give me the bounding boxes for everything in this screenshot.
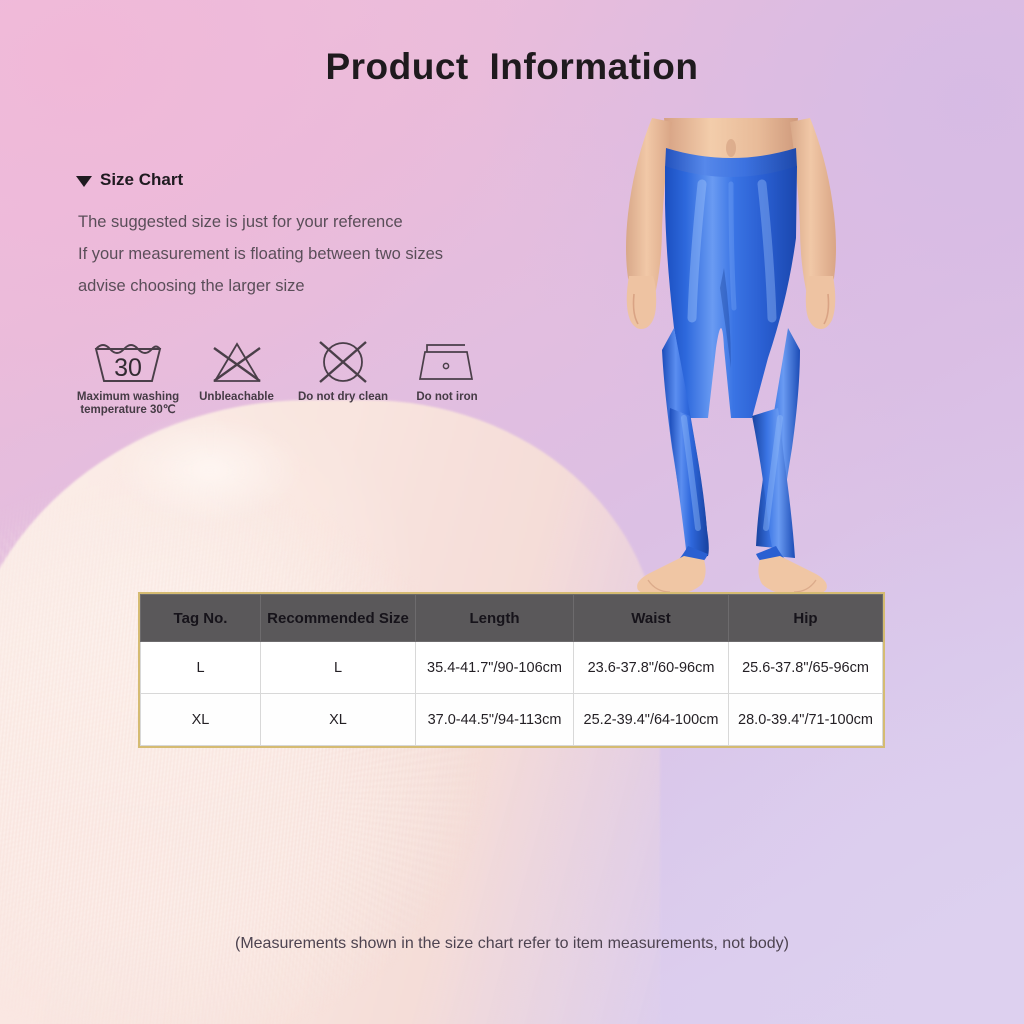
table-row: XL XL 37.0-44.5"/94-113cm 25.2-39.4"/64-… — [141, 694, 883, 746]
column-header-hip: Hip — [729, 595, 883, 642]
cell-length: 37.0-44.5"/94-113cm — [416, 694, 574, 746]
care-symbol-dry-clean: Do not dry clean — [289, 336, 397, 404]
product-information-page: Product Information Size Chart The sugge… — [0, 0, 1024, 1024]
triangle-down-icon — [76, 176, 92, 187]
page-title: Product Information — [0, 46, 1024, 88]
care-symbol-bleach-label: Unbleachable — [199, 391, 274, 404]
cell-hip: 25.6-37.8"/65-96cm — [729, 642, 883, 694]
cell-length: 35.4-41.7"/90-106cm — [416, 642, 574, 694]
care-symbol-bleach: Unbleachable — [184, 336, 289, 404]
column-header-tag-no: Tag No. — [141, 595, 261, 642]
cell-waist: 23.6-37.8"/60-96cm — [574, 642, 729, 694]
column-header-length: Length — [416, 595, 574, 642]
care-symbol-iron: Do not iron — [397, 336, 497, 404]
description-line-2: If your measurement is floating between … — [78, 238, 443, 270]
size-chart-heading-label: Size Chart — [100, 170, 183, 190]
care-symbol-dry-clean-label: Do not dry clean — [298, 391, 388, 404]
do-not-iron-icon — [415, 336, 479, 388]
do-not-dry-clean-icon — [314, 336, 372, 388]
size-chart-heading: Size Chart — [76, 170, 183, 190]
care-symbol-iron-label: Do not iron — [416, 391, 477, 404]
cell-tag-no: XL — [141, 694, 261, 746]
care-symbols-row: 30 Maximum washing temperature 30℃ Unble… — [76, 336, 497, 417]
svg-text:30: 30 — [114, 354, 142, 382]
care-symbol-wash: 30 Maximum washing temperature 30℃ — [76, 336, 180, 417]
cell-hip: 28.0-39.4"/71-100cm — [729, 694, 883, 746]
cell-recommended-size: L — [261, 642, 416, 694]
table-row: L L 35.4-41.7"/90-106cm 23.6-37.8"/60-96… — [141, 642, 883, 694]
product-image — [556, 118, 906, 598]
cell-waist: 25.2-39.4"/64-100cm — [574, 694, 729, 746]
wash-tub-30-icon: 30 — [90, 336, 166, 388]
size-chart-description: The suggested size is just for your refe… — [78, 206, 443, 302]
cell-tag-no: L — [141, 642, 261, 694]
size-chart-table: Tag No. Recommended Size Length Waist Hi… — [140, 594, 883, 746]
column-header-waist: Waist — [574, 595, 729, 642]
size-chart-table-container: Tag No. Recommended Size Length Waist Hi… — [140, 594, 882, 746]
cell-recommended-size: XL — [261, 694, 416, 746]
table-header-row: Tag No. Recommended Size Length Waist Hi… — [141, 595, 883, 642]
measurements-footnote: (Measurements shown in the size chart re… — [0, 935, 1024, 953]
do-not-bleach-icon — [207, 336, 267, 388]
description-line-3: advise choosing the larger size — [78, 270, 443, 302]
description-line-1: The suggested size is just for your refe… — [78, 206, 443, 238]
care-symbol-wash-label: Maximum washing temperature 30℃ — [77, 391, 179, 417]
column-header-recommended-size: Recommended Size — [261, 595, 416, 642]
